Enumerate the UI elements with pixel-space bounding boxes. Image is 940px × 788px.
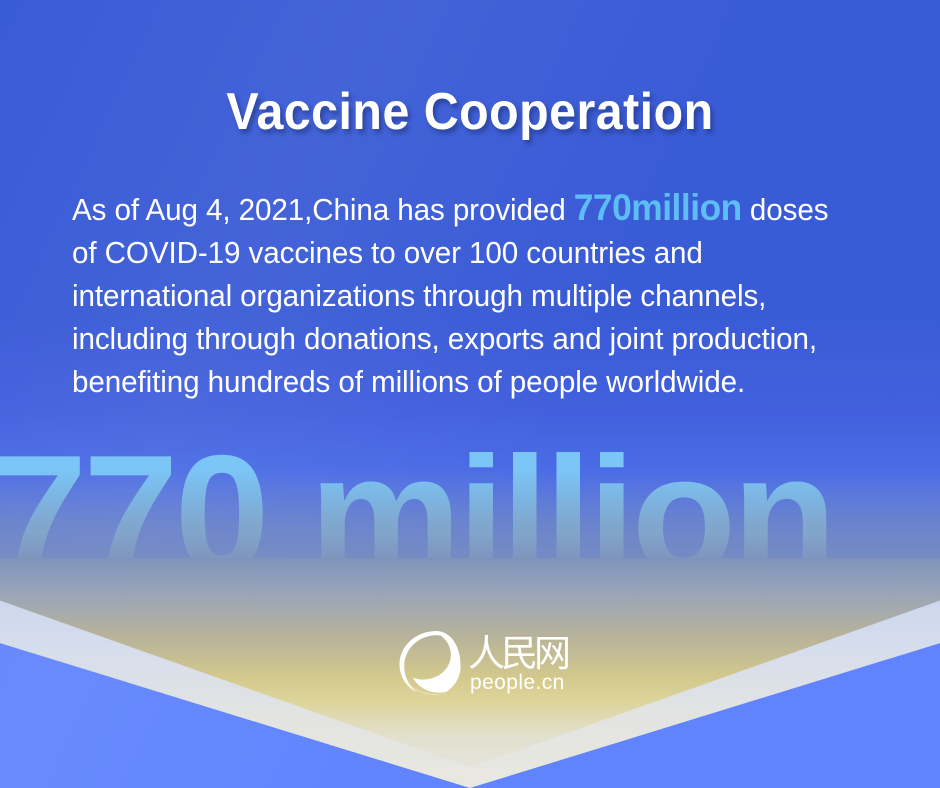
chinese-wordmark-text: 人民网 <box>468 634 568 674</box>
chinese-wordmark-renminwang: 人民网 <box>468 630 572 674</box>
highlight-unit: million <box>631 187 742 228</box>
page-title: Vaccine Cooperation <box>33 84 907 140</box>
people-daily-crescent-icon <box>392 628 464 696</box>
logo: 人民网 people.cn <box>392 628 572 704</box>
logo-latin-text: people.cn <box>470 672 565 693</box>
infographic-poster: Vaccine Cooperation As of Aug 4, 2021,Ch… <box>0 0 940 788</box>
highlight-number: 770 <box>574 187 632 228</box>
body-paragraph: As of Aug 4, 2021,China has provided 770… <box>72 186 851 403</box>
body-lead-text: As of Aug 4, 2021,China has provided <box>72 192 574 227</box>
